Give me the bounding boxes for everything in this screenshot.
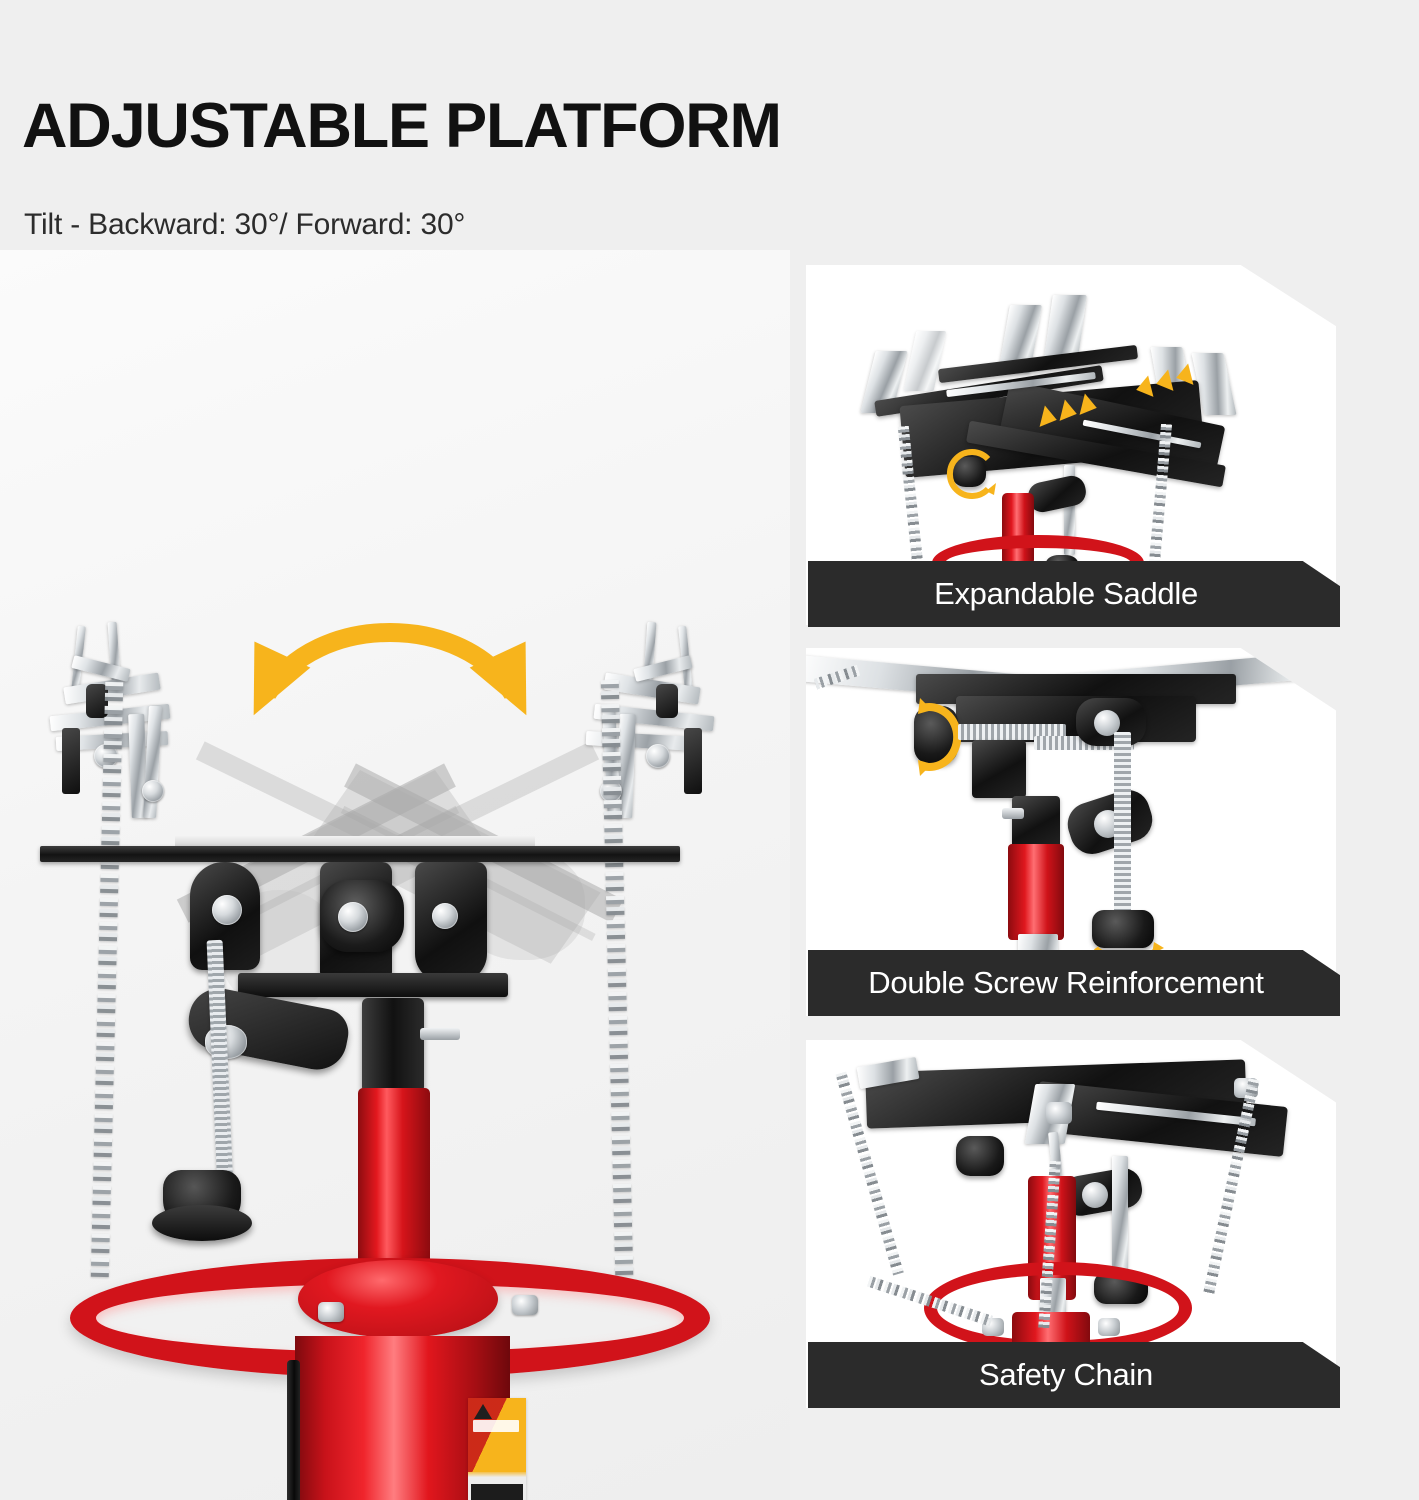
feature-caption-double-screw-reinforcement: Double Screw Reinforcement bbox=[808, 950, 1340, 1016]
release-rod bbox=[287, 1360, 300, 1500]
black-ram-collar bbox=[1012, 796, 1060, 850]
saddle-cross-bar bbox=[40, 846, 680, 862]
hydraulic-ram-red bbox=[1008, 844, 1064, 940]
hero-product-image bbox=[0, 250, 790, 1500]
saddle-bolt-1 bbox=[212, 895, 242, 925]
tilt-direction-arrow-icon bbox=[205, 602, 575, 722]
feature-caption-safety-chain: Safety Chain bbox=[808, 1342, 1340, 1408]
base-hub-bolt-left bbox=[318, 1302, 344, 1322]
reinforcement-screw-2 bbox=[1114, 732, 1131, 932]
base-hub-bolt-right bbox=[512, 1295, 538, 1315]
pivot-bolt bbox=[1082, 1182, 1108, 1208]
saddle-bolt-3 bbox=[432, 903, 458, 929]
saddle-lock-knob bbox=[956, 1136, 1004, 1176]
ram-collar bbox=[362, 998, 424, 1093]
feature-caption-label: Expandable Saddle bbox=[934, 577, 1198, 611]
warning-label-capacity bbox=[473, 1420, 519, 1432]
base-bolt-right bbox=[1098, 1318, 1120, 1336]
reinforcement-screw bbox=[1112, 1156, 1128, 1278]
right-clamp-assembly bbox=[568, 622, 718, 872]
feature-caption-label: Safety Chain bbox=[979, 1358, 1153, 1392]
feature-caption-expandable-saddle: Expandable Saddle bbox=[808, 561, 1340, 627]
base-hub bbox=[298, 1260, 498, 1338]
page-subtitle: Tilt - Backward: 30°/ Forward: 30° bbox=[24, 207, 465, 243]
hydraulic-ram bbox=[358, 1088, 430, 1268]
saddle-mount-bolt bbox=[1046, 1102, 1072, 1124]
feature-caption-label: Double Screw Reinforcement bbox=[868, 966, 1263, 1000]
ram-pin bbox=[1002, 808, 1024, 819]
warning-triangle-icon bbox=[474, 1404, 492, 1419]
warning-label-bar-1 bbox=[471, 1484, 523, 1500]
screw-mount-block bbox=[972, 740, 1026, 798]
adjust-screw-knob-flange bbox=[152, 1205, 252, 1241]
rotation-arrow-icon bbox=[940, 447, 1002, 501]
clamp-bolt-2 bbox=[142, 780, 164, 802]
clamp-black-block bbox=[684, 728, 702, 794]
page-title: ADJUSTABLE PLATFORM bbox=[22, 92, 781, 160]
clamp-bolt bbox=[646, 744, 670, 768]
saddle-bolt-2 bbox=[338, 902, 368, 932]
clamp-black-block-2 bbox=[656, 684, 678, 718]
ram-pin bbox=[420, 1028, 460, 1040]
pivot-link bbox=[1026, 473, 1089, 514]
clamp-black-block bbox=[62, 728, 80, 794]
warning-label-sticker bbox=[468, 1398, 526, 1500]
header: ADJUSTABLE PLATFORM Tilt - Backward: 30°… bbox=[0, 0, 1419, 260]
hero-stage bbox=[0, 250, 790, 1500]
saddle-base-plate bbox=[238, 973, 508, 997]
